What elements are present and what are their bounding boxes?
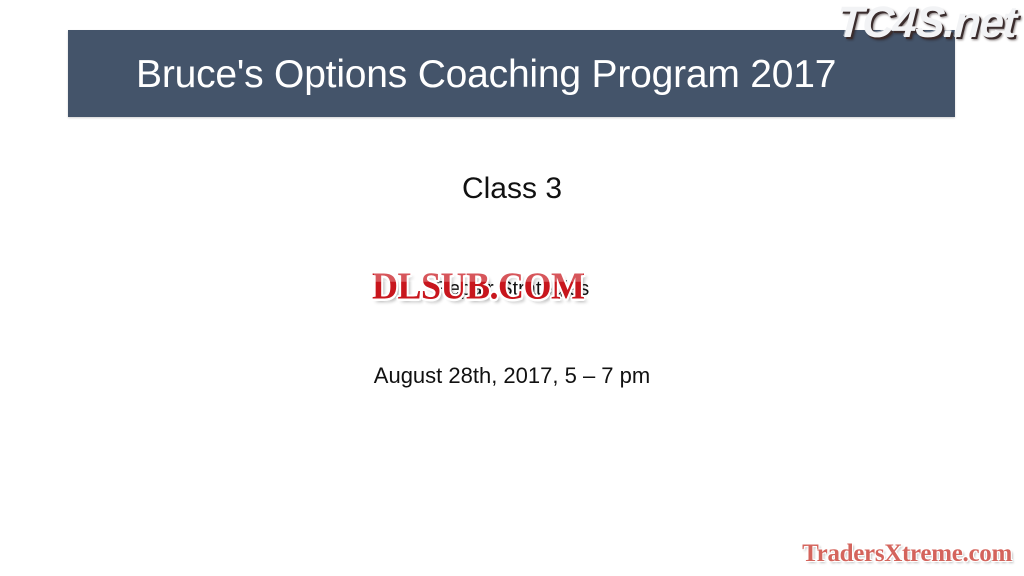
presentation-slide: Bruce's Options Coaching Program 2017 Cl… [0, 0, 1024, 576]
class-number-label: Class 3 [0, 172, 1024, 206]
class-datetime-label: August 28th, 2017, 5 – 7 pm [0, 363, 1024, 389]
class-topic-label: Repair Strategies [0, 278, 1024, 301]
tradersxtreme-watermark: TradersXtreme.com [802, 540, 1012, 568]
slide-title: Bruce's Options Coaching Program 2017 [136, 46, 936, 104]
